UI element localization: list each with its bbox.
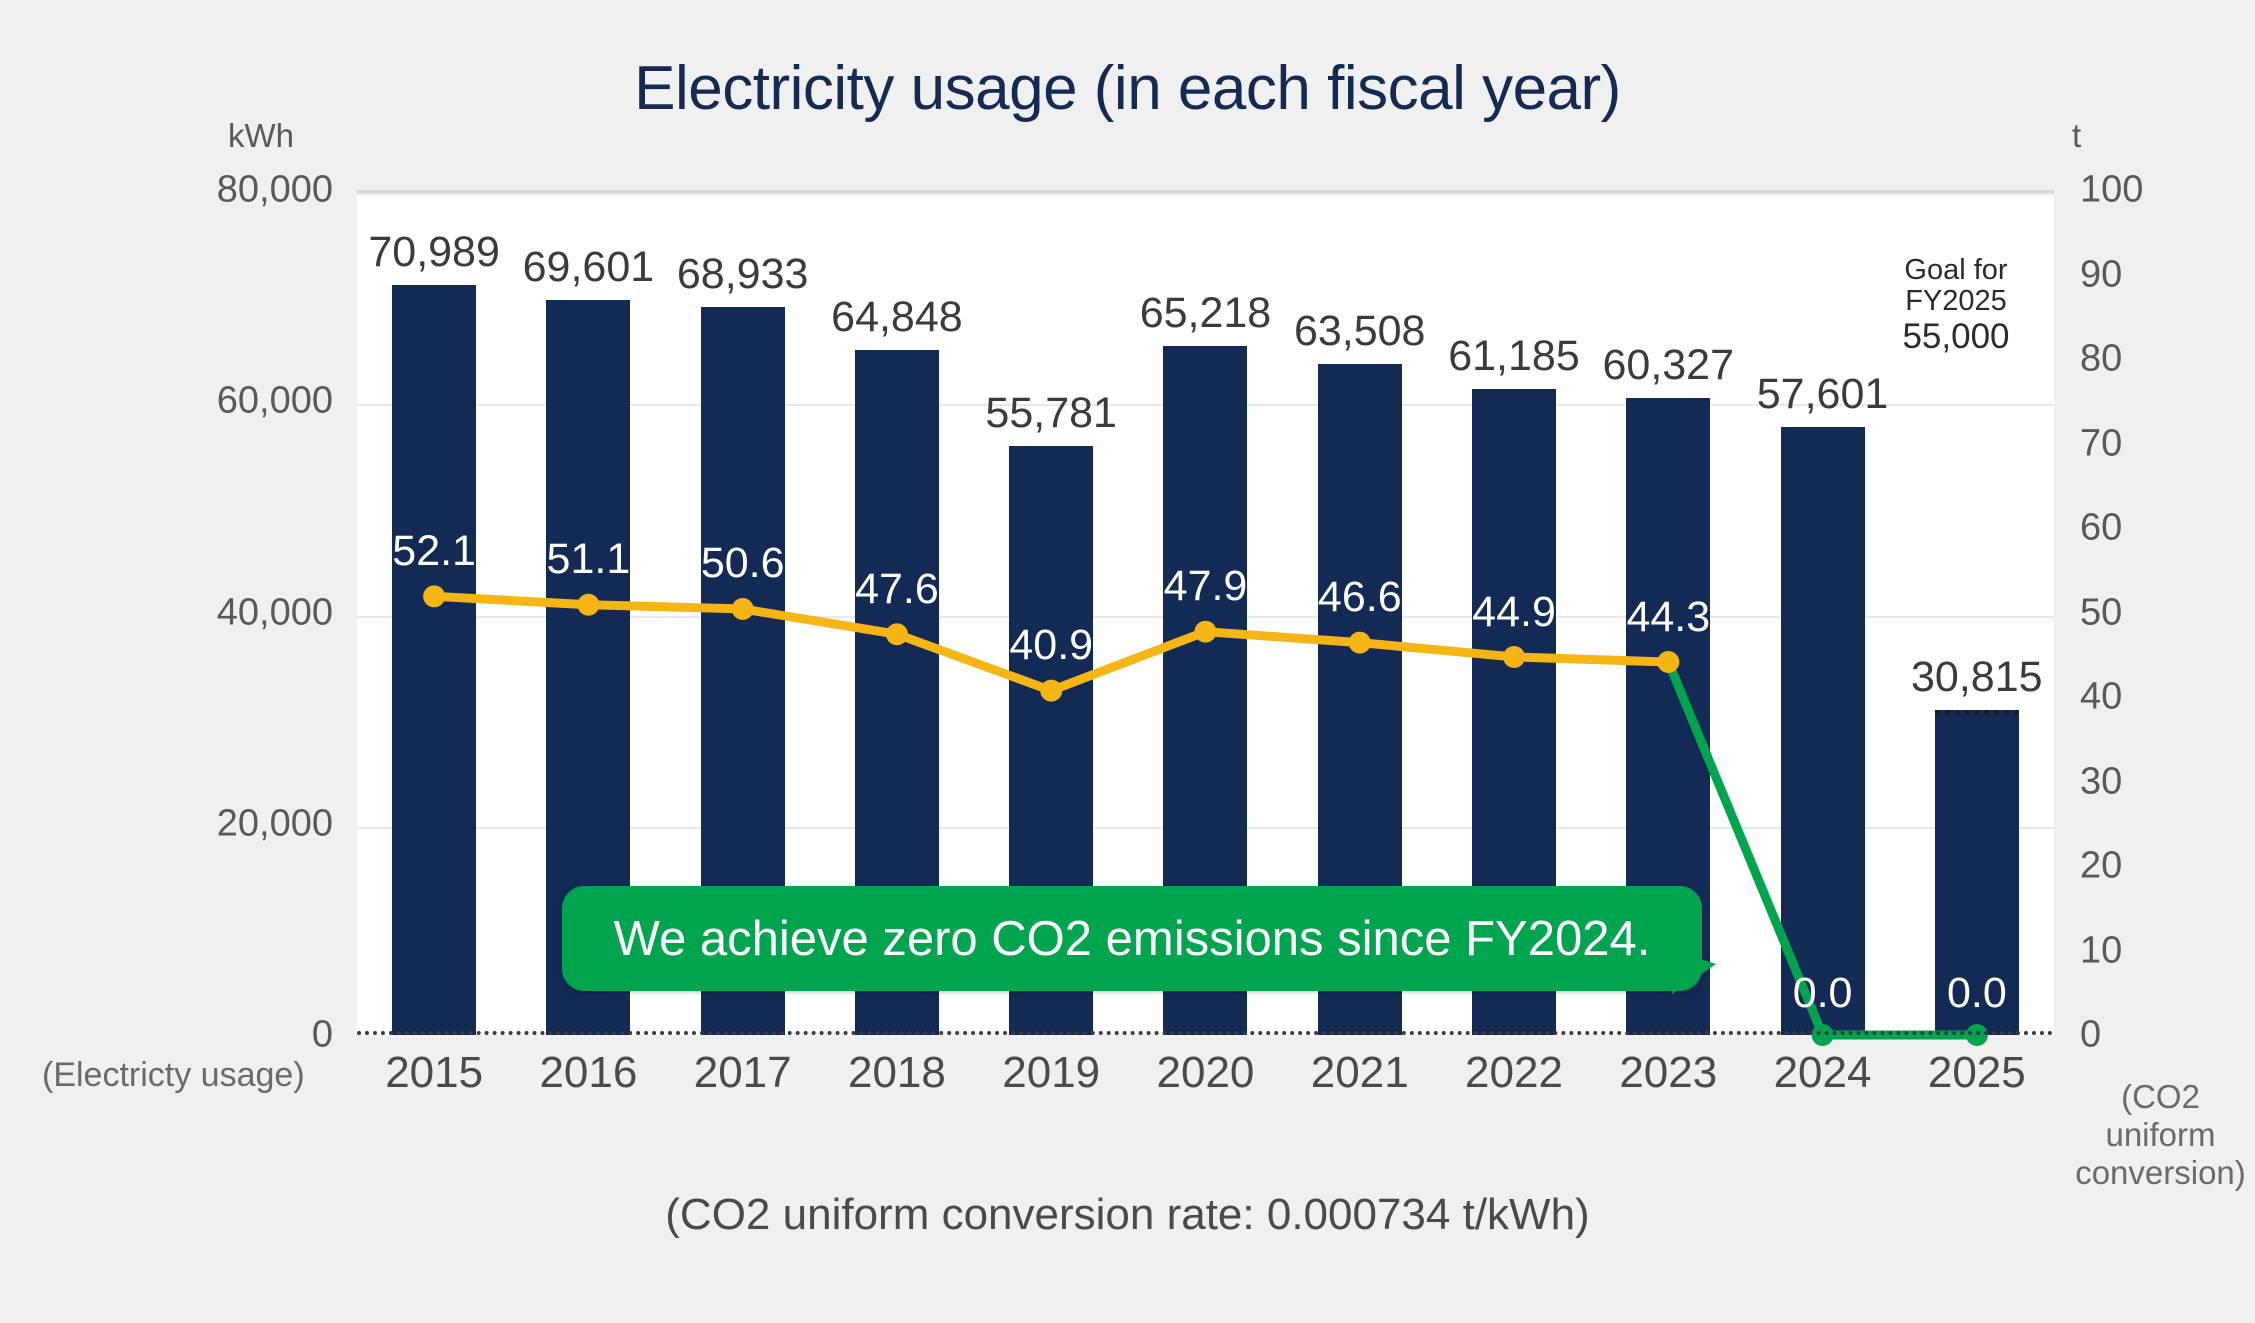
x-axis-labels: 2015201620172018201920202021202220232024… [357, 1048, 2054, 1108]
left-axis-caption: (Electricty usage) [42, 1056, 305, 1095]
bar-value-label: 69,601 [523, 243, 655, 292]
bar [392, 285, 476, 1035]
banner-text: We achieve zero CO2 emissions since FY20… [614, 911, 1651, 967]
right-axis-tick-label: 40 [2080, 676, 2122, 719]
line-value-label: 52.1 [392, 527, 476, 576]
zero-axis-line [357, 1031, 2054, 1035]
right-axis-unit: t [2072, 117, 2081, 155]
right-axis-tick-label: 30 [2080, 760, 2122, 803]
bar-value-label: 64,848 [831, 293, 963, 342]
x-axis-tick-label: 2020 [1128, 1048, 1282, 1108]
bar-value-label: 57,601 [1757, 370, 1889, 419]
bar [1781, 427, 1865, 1035]
banner-tail [1672, 950, 1716, 994]
right-axis-tick-label: 80 [2080, 338, 2122, 381]
x-axis-tick-label: 2016 [511, 1048, 665, 1108]
x-axis-tick-label: 2025 [1900, 1048, 2054, 1108]
left-axis-tick-label: 0 [0, 1014, 333, 1057]
left-axis-tick-label: 20,000 [0, 802, 333, 845]
x-axis-tick-label: 2021 [1283, 1048, 1437, 1108]
line-value-label: 0.0 [1947, 969, 2007, 1018]
bar-slot: 70,989 [357, 193, 511, 1035]
line-value-label: 44.3 [1626, 593, 1710, 642]
goal-line-2: FY2025 [1866, 286, 2046, 317]
right-axis-tick-label: 100 [2080, 169, 2143, 212]
chart-canvas: Electricity usage (in each fiscal year) … [0, 0, 2255, 1323]
bar-value-label: 63,508 [1294, 307, 1426, 356]
line-value-label: 50.6 [701, 539, 785, 588]
footer-caption: (CO2 uniform conversion rate: 0.000734 t… [0, 1190, 2255, 1240]
zero-emissions-banner: We achieve zero CO2 emissions since FY20… [562, 886, 1702, 991]
goal-line-1: Goal for [1866, 255, 2046, 286]
x-axis-tick-label: 2017 [666, 1048, 820, 1108]
bar-value-label: 61,185 [1448, 332, 1580, 381]
left-axis-tick-label: 60,000 [0, 380, 333, 423]
right-axis-caption-line-1: (CO2 [2068, 1078, 2253, 1116]
line-value-label: 0.0 [1793, 969, 1853, 1018]
x-axis-tick-label: 2018 [820, 1048, 974, 1108]
x-axis-tick-label: 2024 [1745, 1048, 1899, 1108]
right-axis-tick-label: 60 [2080, 507, 2122, 550]
right-axis-caption-line-3: conversion) [2068, 1154, 2253, 1192]
bar-value-label: 60,327 [1602, 341, 1734, 390]
page-title: Electricity usage (in each fiscal year) [0, 58, 2255, 120]
left-axis-tick-label: 40,000 [0, 591, 333, 634]
right-axis-caption-line-2: uniform [2068, 1116, 2253, 1154]
x-axis-tick-label: 2022 [1437, 1048, 1591, 1108]
bar-value-label: 30,815 [1911, 653, 2043, 702]
right-axis-tick-label: 50 [2080, 591, 2122, 634]
line-value-label: 51.1 [547, 535, 631, 584]
right-axis-tick-label: 90 [2080, 253, 2122, 296]
line-value-label: 47.6 [855, 565, 939, 614]
right-axis-tick-label: 20 [2080, 845, 2122, 888]
right-axis-tick-label: 0 [2080, 1014, 2101, 1057]
x-axis-tick-label: 2015 [357, 1048, 511, 1108]
goal-value: 55,000 [1866, 318, 2046, 356]
line-value-label: 44.9 [1472, 588, 1556, 637]
right-axis-tick-label: 70 [2080, 422, 2122, 465]
left-axis-unit: kWh [228, 117, 294, 155]
line-value-label: 40.9 [1009, 621, 1093, 670]
line-value-label: 47.9 [1164, 562, 1248, 611]
right-axis-caption: (CO2 uniform conversion) [2068, 1078, 2253, 1192]
bar-value-label: 70,989 [368, 228, 500, 277]
right-axis-tick-label: 10 [2080, 929, 2122, 972]
line-value-label: 46.6 [1318, 573, 1402, 622]
bar-value-label: 68,933 [677, 250, 809, 299]
left-axis-tick-label: 80,000 [0, 169, 333, 212]
bar-value-label: 55,781 [985, 389, 1117, 438]
goal-annotation: Goal for FY2025 55,000 [1866, 255, 2046, 355]
x-axis-tick-label: 2023 [1591, 1048, 1745, 1108]
x-axis-tick-label: 2019 [974, 1048, 1128, 1108]
bar-value-label: 65,218 [1140, 289, 1272, 338]
